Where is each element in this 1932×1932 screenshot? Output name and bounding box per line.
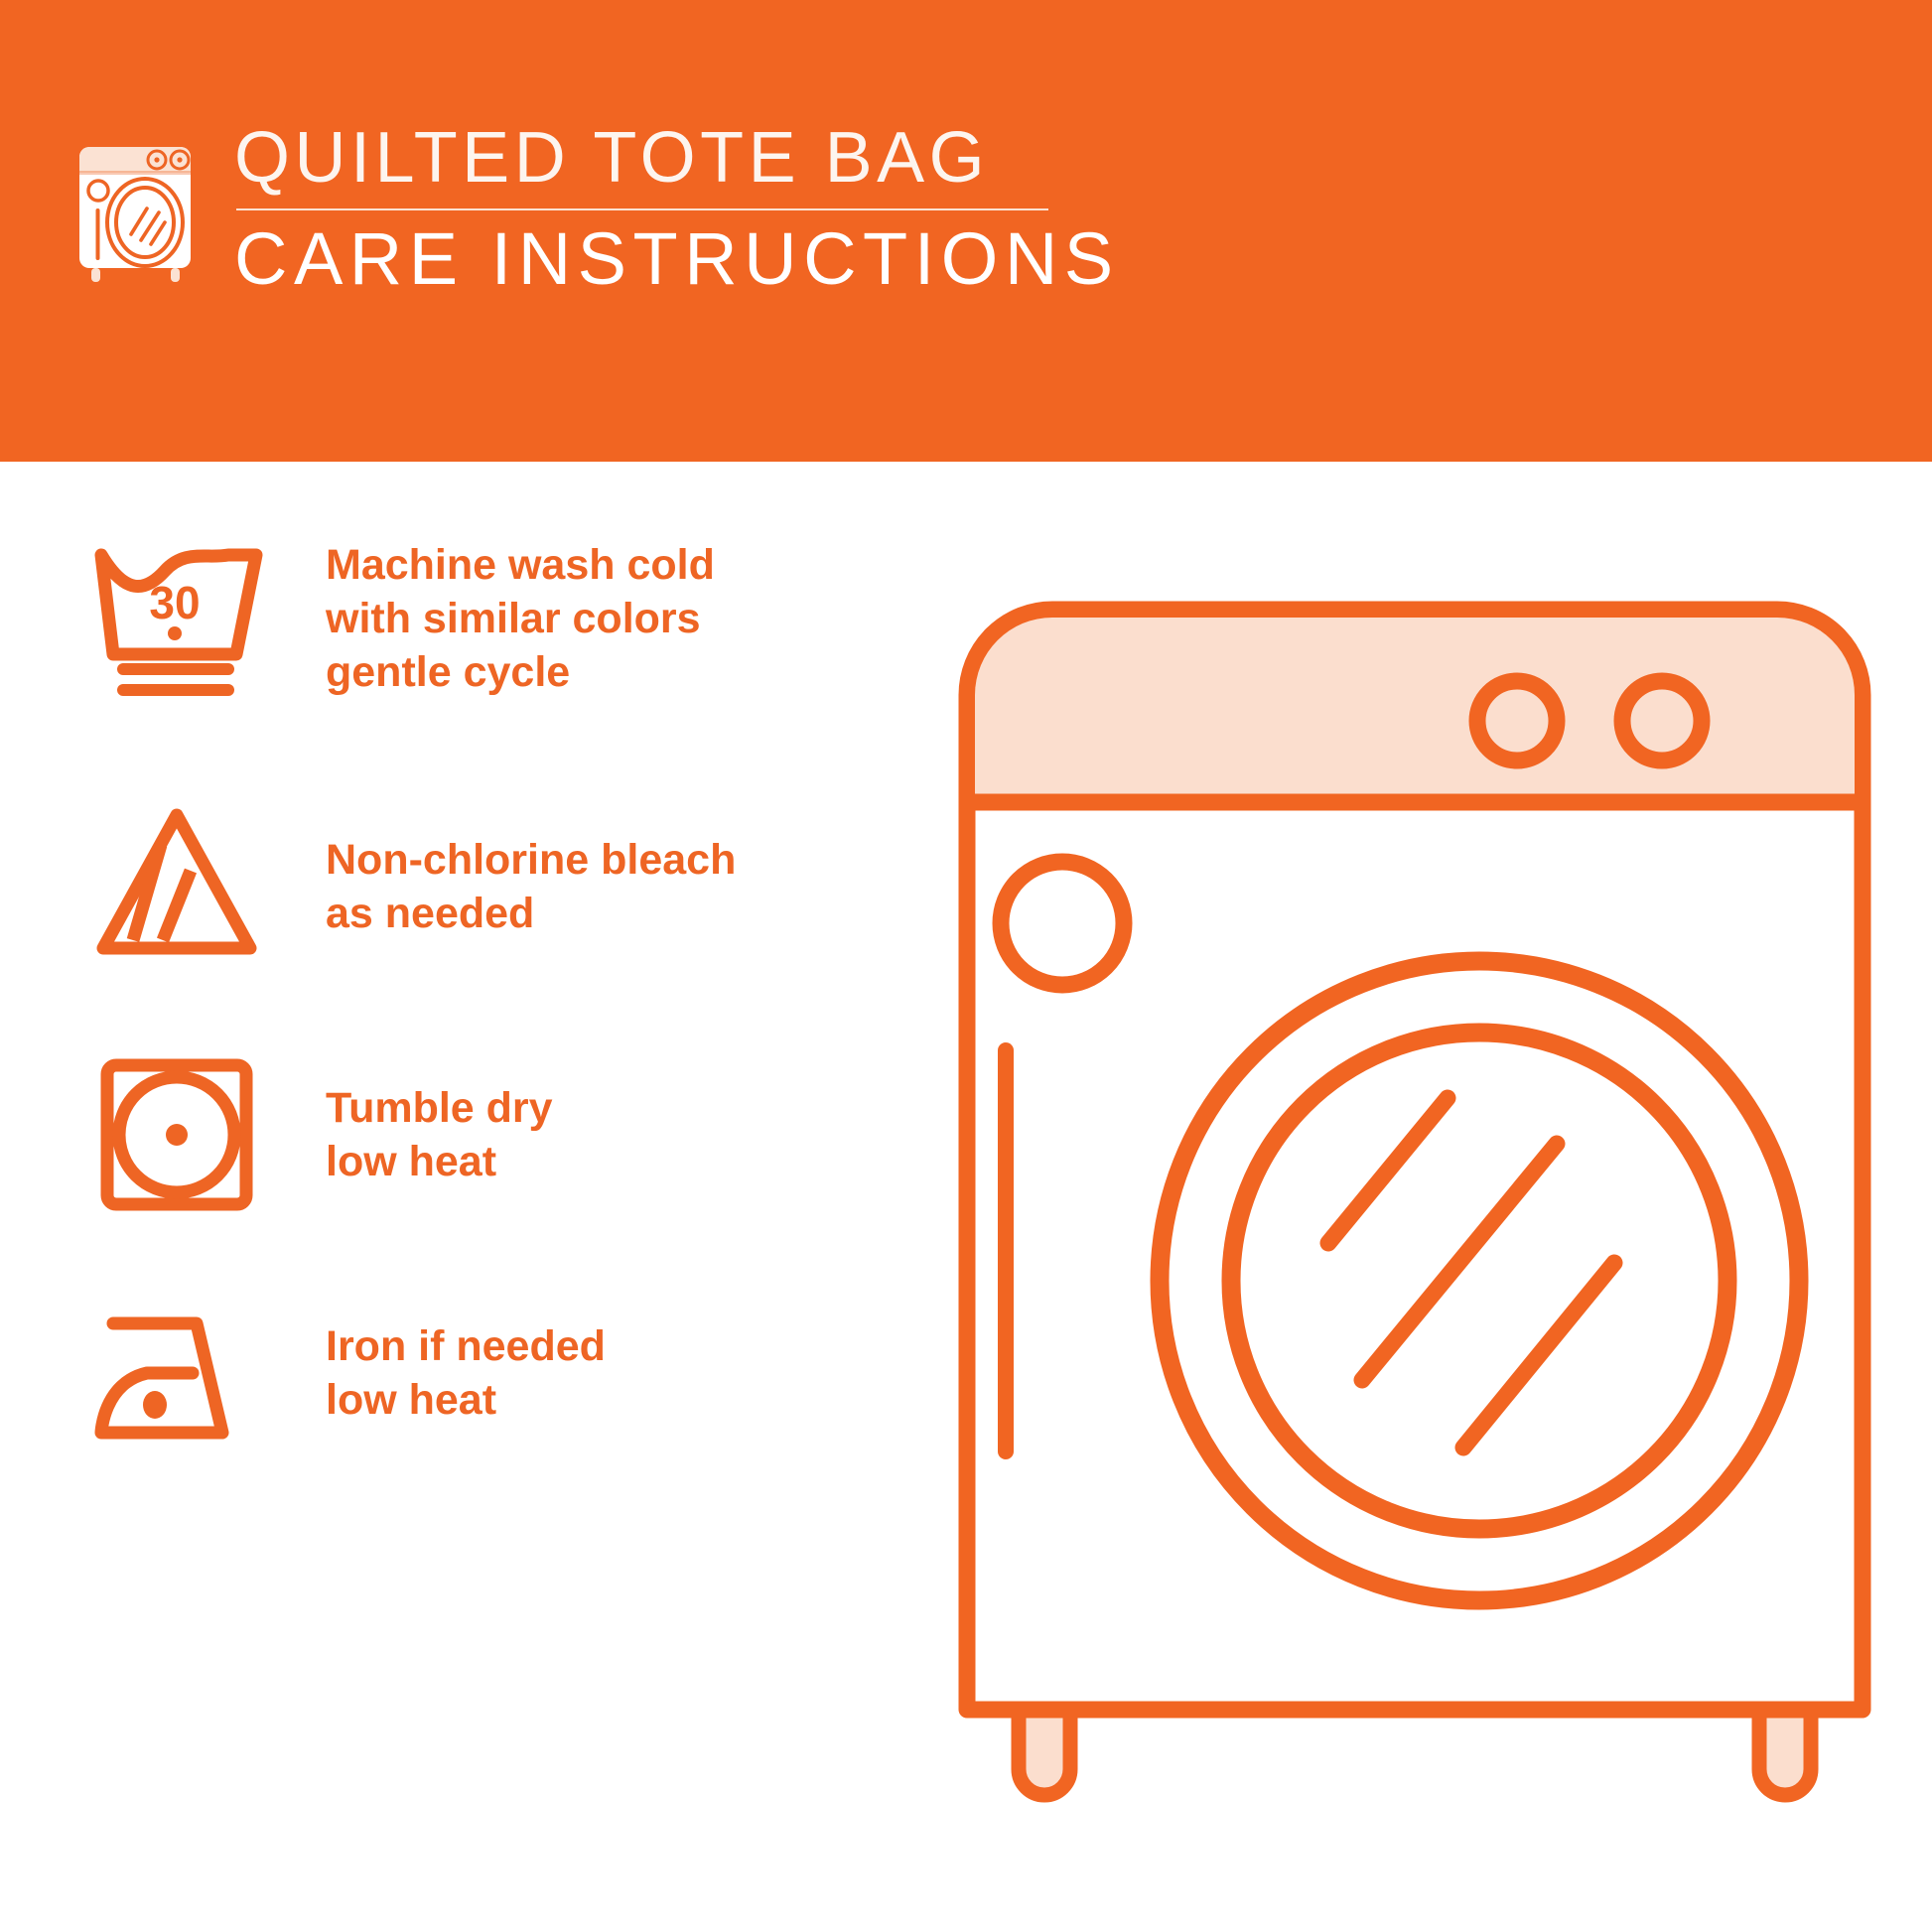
non-chlorine-bleach-triangle-icon (77, 799, 276, 973)
title-divider (236, 208, 1048, 210)
page-subtitle: CARE INSTRUCTIONS (234, 216, 1058, 302)
iron-low-heat-icon (77, 1286, 276, 1459)
header-banner: QUILTED TOTE BAG CARE INSTRUCTIONS (0, 0, 1932, 462)
wash-temp-label: 30 (149, 577, 200, 628)
care-label-bleach: Non-chlorine bleach as needed (326, 833, 736, 940)
handle-bar (998, 1042, 1014, 1459)
care-instruction-list: 30 Machine wash cold with similar colors… (0, 462, 953, 1932)
leg-right (1759, 1708, 1811, 1795)
care-label-tumble-dry: Tumble dry low heat (326, 1081, 553, 1188)
care-row-wash: 30 Machine wash cold with similar colors… (77, 531, 715, 705)
header-title-block: QUILTED TOTE BAG CARE INSTRUCTIONS (234, 117, 1058, 302)
leg-left (1019, 1708, 1070, 1795)
tumble-dry-low-heat-icon (77, 1047, 276, 1221)
care-row-iron: Iron if needed low heat (77, 1286, 606, 1459)
care-row-tumble-dry: Tumble dry low heat (77, 1047, 553, 1221)
wash-basin-30-gentle-icon: 30 (77, 531, 276, 705)
washing-machine-icon (73, 123, 207, 282)
control-panel (975, 618, 1855, 804)
care-label-iron: Iron if needed low heat (326, 1319, 606, 1427)
washing-machine-illustration (953, 596, 1876, 1847)
care-instructions-infographic: QUILTED TOTE BAG CARE INSTRUCTIONS 30 Ma… (0, 0, 1932, 1932)
care-row-bleach: Non-chlorine bleach as needed (77, 799, 736, 973)
page-title: QUILTED TOTE BAG (234, 117, 1058, 199)
care-label-wash: Machine wash cold with similar colors ge… (326, 538, 715, 699)
